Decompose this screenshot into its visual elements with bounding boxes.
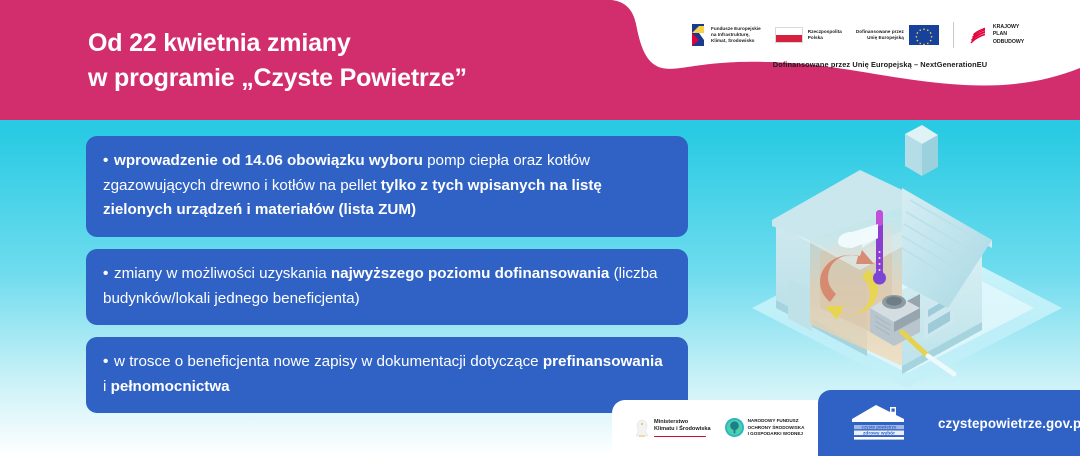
top-logo-strip: Fundusze Europejskie na Infrastrukturę, … bbox=[690, 14, 1070, 56]
czyste-powietrze-banner: Od 22 kwietnia zmiany w programie „Czyst… bbox=[0, 0, 1080, 456]
program-website-url[interactable]: czystepowietrze.gov.pl bbox=[938, 416, 1080, 431]
nfosigw-tree-icon bbox=[725, 418, 744, 437]
czyste-powietrze-logo: czyste powietrze zdrowy wybór bbox=[846, 403, 916, 443]
page-title: Od 22 kwietnia zmiany w programie „Czyst… bbox=[88, 26, 648, 95]
eu-funding-note: Dofinansowane przez Unię Europejską – Ne… bbox=[690, 60, 1070, 69]
chimney bbox=[905, 125, 938, 176]
card-2-segment-2: najwyższego poziomu dofinansowania bbox=[331, 265, 609, 282]
eu-funds-logo: Fundusze Europejskie na Infrastrukturę, … bbox=[690, 24, 761, 46]
card-3-segment-4: pełnomocnictwa bbox=[111, 378, 230, 395]
national-recovery-plan-logo: KRAJOWY PLAN ODBUDOWY bbox=[968, 24, 1024, 47]
eu-logo-label: Dofinansowane przez Unię Europejską bbox=[856, 29, 904, 41]
headline-line-2: w programie „Czyste Powietrze” bbox=[88, 61, 648, 96]
polish-eagle-icon bbox=[634, 419, 650, 438]
isometric-house-illustration bbox=[742, 112, 1080, 402]
card-3-segment-3: i bbox=[103, 378, 111, 395]
kpo-icon bbox=[968, 25, 988, 45]
cp-logo-line-2: zdrowy wybór bbox=[863, 430, 895, 436]
ministry-logo-label: Ministerstwo Klimatu i Środowiska bbox=[654, 419, 711, 434]
card-3-segment-2: prefinansowania bbox=[543, 353, 663, 370]
eu-funds-logo-label: Fundusze Europejskie na Infrastrukturę, … bbox=[711, 26, 761, 44]
logo-divider bbox=[953, 22, 954, 48]
footer-program-bar: czyste powietrze zdrowy wybór czystepowi… bbox=[818, 390, 1080, 456]
ministry-of-climate-logo: Ministerstwo Klimatu i Środowiska bbox=[634, 419, 711, 438]
eu-funds-icon bbox=[690, 24, 706, 46]
bullet-marker: • bbox=[103, 262, 114, 287]
bullet-marker: • bbox=[103, 350, 114, 375]
european-union-logo: Dofinansowane przez Unię Europejską bbox=[856, 25, 939, 45]
republic-of-poland-logo: Rzeczpospolita Polska bbox=[775, 27, 842, 43]
bullet-marker: • bbox=[103, 149, 114, 174]
cp-logo-line-1: czyste powietrze bbox=[862, 425, 897, 430]
bullet-card-1: •wprowadzenie od 14.06 obowiązku wyboru … bbox=[86, 136, 688, 237]
nfosigw-logo: NARODOWY FUNDUSZ OCHRONY ŚRODOWISKA I GO… bbox=[725, 418, 805, 438]
poland-flag-icon bbox=[775, 27, 803, 43]
card-3-segment-1: w trosce o beneficjenta nowe zapisy w do… bbox=[114, 353, 543, 370]
eu-flag-icon bbox=[909, 25, 939, 45]
poland-logo-label: Rzeczpospolita Polska bbox=[808, 29, 842, 41]
bullet-card-3: •w trosce o beneficjenta nowe zapisy w d… bbox=[86, 337, 688, 413]
headline-line-1: Od 22 kwietnia zmiany bbox=[88, 29, 351, 57]
ministry-logo-rule bbox=[654, 436, 706, 438]
nfosigw-logo-label: NARODOWY FUNDUSZ OCHRONY ŚRODOWISKA I GO… bbox=[748, 418, 805, 438]
card-2-segment-1: zmiany w możliwości uzyskania bbox=[114, 265, 331, 282]
bullet-card-2: •zmiany w możliwości uzyskania najwyższe… bbox=[86, 249, 688, 325]
footer-institution-logos: Ministerstwo Klimatu i Środowiska NARODO… bbox=[612, 400, 850, 456]
bullet-card-list: •wprowadzenie od 14.06 obowiązku wyboru … bbox=[86, 136, 688, 425]
card-1-segment-1: wprowadzenie od 14.06 obowiązku wyboru bbox=[114, 152, 427, 169]
kpo-logo-label: KRAJOWY PLAN ODBUDOWY bbox=[993, 24, 1024, 47]
